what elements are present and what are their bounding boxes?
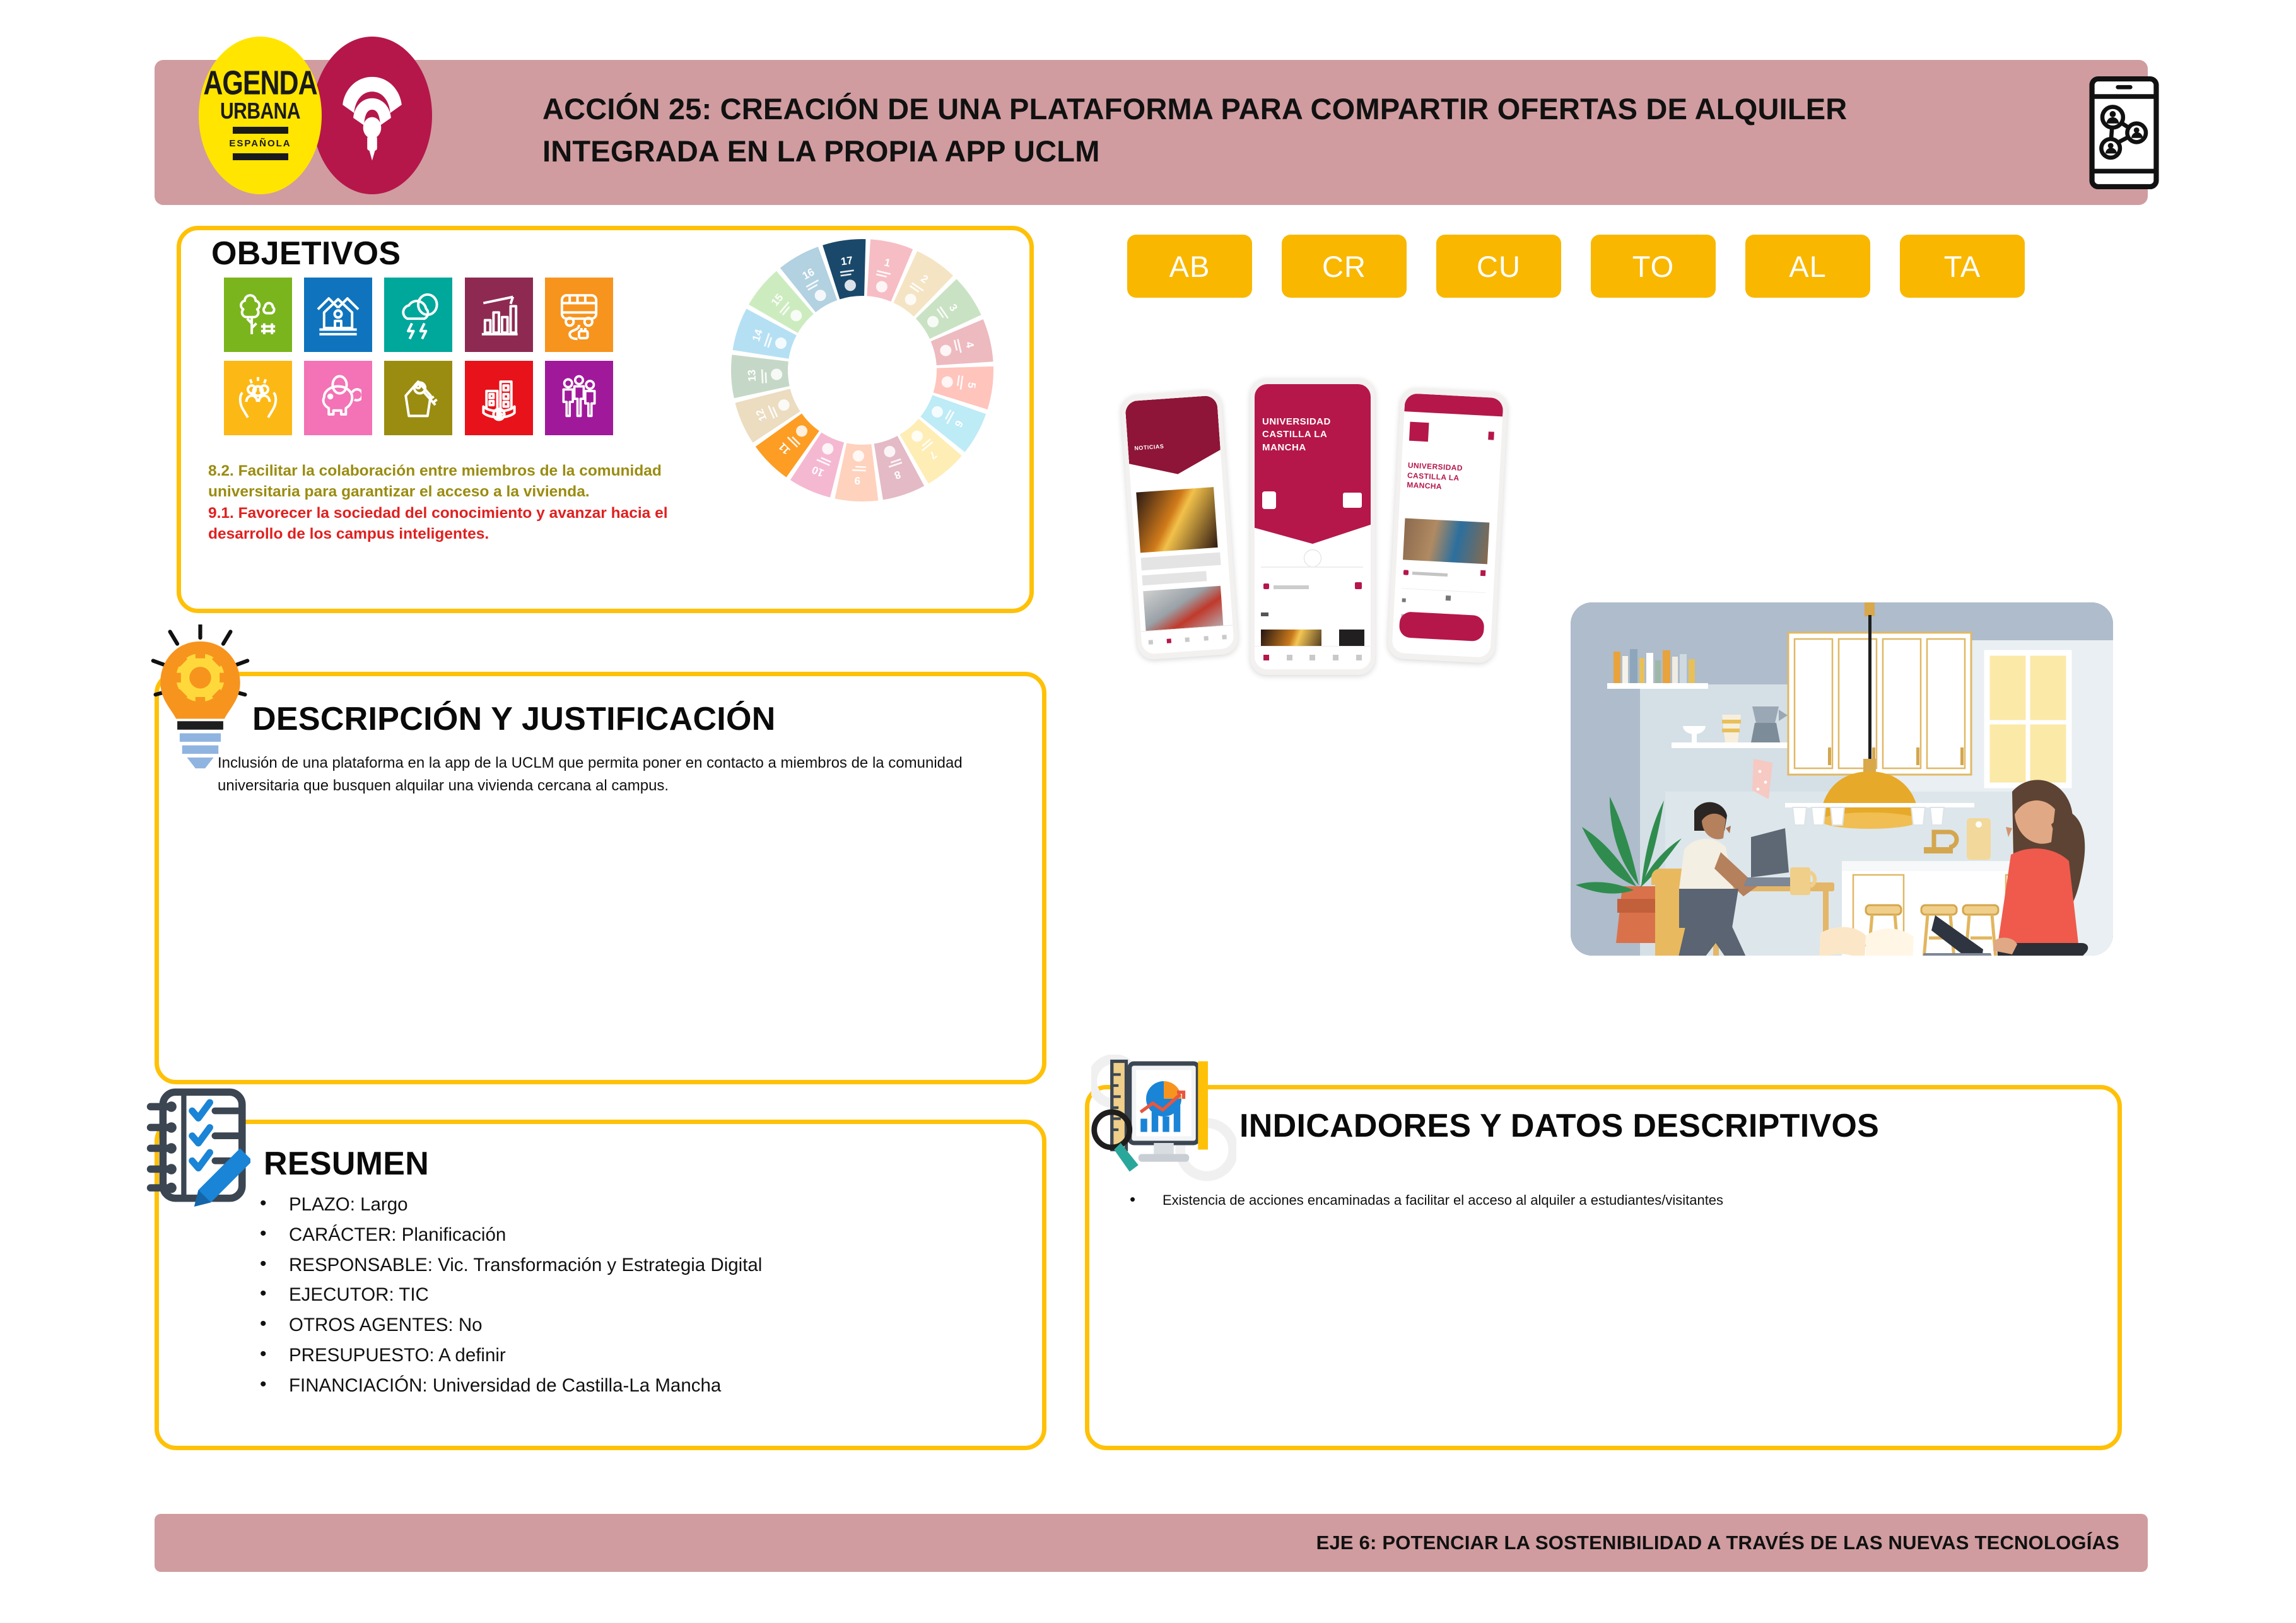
list-item: OTROS AGENTES: No [251,1310,995,1340]
list-item: CARÁCTER: Planificación [251,1220,995,1250]
sdg-number-9: 9 [854,474,860,486]
logo-bar-bottom [233,153,288,160]
phone-mockup-3: UNIVERSIDAD CASTILLA LA MANCHA [1387,387,1508,664]
descripcion-body: Inclusión de una plataforma en la app de… [218,752,1031,797]
resumen-heading: RESUMEN [264,1145,429,1183]
descripcion-heading: DESCRIPCIÓN Y JUSTIFICACIÓN [252,700,776,738]
community-people-icon [545,361,613,435]
indicadores-heading: INDICADORES Y DATOS DESCRIPTIVOS [1239,1107,1879,1145]
rocket-signal-logo [312,37,432,194]
page-title: ACCIÓN 25: CREACIÓN DE UNA PLATAFORMA PA… [542,88,2012,202]
phone2-title: UNIVERSIDAD CASTILLA LA MANCHA [1262,416,1355,454]
agenda-urbana-logo: AGENDA URBANA ESPAÑOLA [199,37,322,194]
electric-bus-icon [545,278,613,352]
housing-icon [304,278,372,352]
objetivo-9-1: 9.1. Favorecer la sociedad del conocimie… [208,503,706,545]
sdg-wheel: 1234567891011121314151617 [727,235,998,506]
logo-line-agenda: AGENDA [203,64,317,103]
resumen-list: PLAZO: Largo CARÁCTER: Planificación RES… [251,1190,995,1400]
analytics-monitor-icon [1091,1055,1236,1187]
park-trees-icon [224,278,292,352]
sdg-number-17: 17 [840,254,853,267]
objetivos-heading: OBJETIVOS [211,235,401,272]
objetivo-8-2: 8.2. Facilitar la colaboración entre mie… [208,460,706,503]
list-item: PRESUPUESTO: A definir [251,1340,995,1371]
campus-badge-cu[interactable]: CU [1436,235,1561,298]
smart-city-icon [465,361,533,435]
logo-line-urbana: URBANA [220,99,300,125]
phone-mockup-2: UNIVERSIDAD CASTILLA LA MANCHA [1250,378,1375,675]
campus-badge-cr[interactable]: CR [1282,235,1407,298]
logo-line-espanola: ESPAÑOLA [229,138,291,149]
list-item: FINANCIACIÓN: Universidad de Castilla-La… [251,1371,995,1401]
list-item: Existencia de acciones encaminadas a fac… [1120,1189,2034,1211]
house-keys-icon [384,361,452,435]
campus-badge-ab[interactable]: AB [1127,235,1252,298]
phone3-title: UNIVERSIDAD CASTILLA LA MANCHA [1407,461,1491,495]
list-item: PLAZO: Largo [251,1190,995,1220]
phone-mockup-1: NOTICIAS [1120,389,1239,660]
climate-storm-icon [384,278,452,352]
campus-badges: AB CR CU TO AL TA [1127,235,2025,298]
lightbulb-gear-icon [145,624,255,770]
list-item: RESPONSABLE: Vic. Transformación y Estra… [251,1250,995,1280]
notebook-checklist-icon [146,1084,250,1207]
objetivos-icon-grid [224,278,615,435]
indicadores-list: Existencia de acciones encaminadas a fac… [1120,1189,2034,1211]
campus-badge-to[interactable]: TO [1591,235,1716,298]
footer-text: EJE 6: POTENCIAR LA SOSTENIBILIDAD A TRA… [155,1514,2119,1572]
list-item: EJECUTOR: TIC [251,1280,995,1310]
phone-network-icon [2088,74,2160,191]
sdg-number-13: 13 [746,369,758,382]
students-working-at-home-illustration [1571,602,2113,956]
piggy-bank-icon [304,361,372,435]
campus-badge-ta[interactable]: TA [1900,235,2025,298]
hands-people-icon [224,361,292,435]
logo-bar-top [233,127,288,134]
objetivos-text-list: 8.2. Facilitar la colaboración entre mie… [208,460,706,544]
campus-badge-al[interactable]: AL [1745,235,1870,298]
growth-chart-icon [465,278,533,352]
uclm-app-mockups: NOTICIAS UNIVERSIDAD CASTILLA LA MANCHA [1129,378,1533,694]
